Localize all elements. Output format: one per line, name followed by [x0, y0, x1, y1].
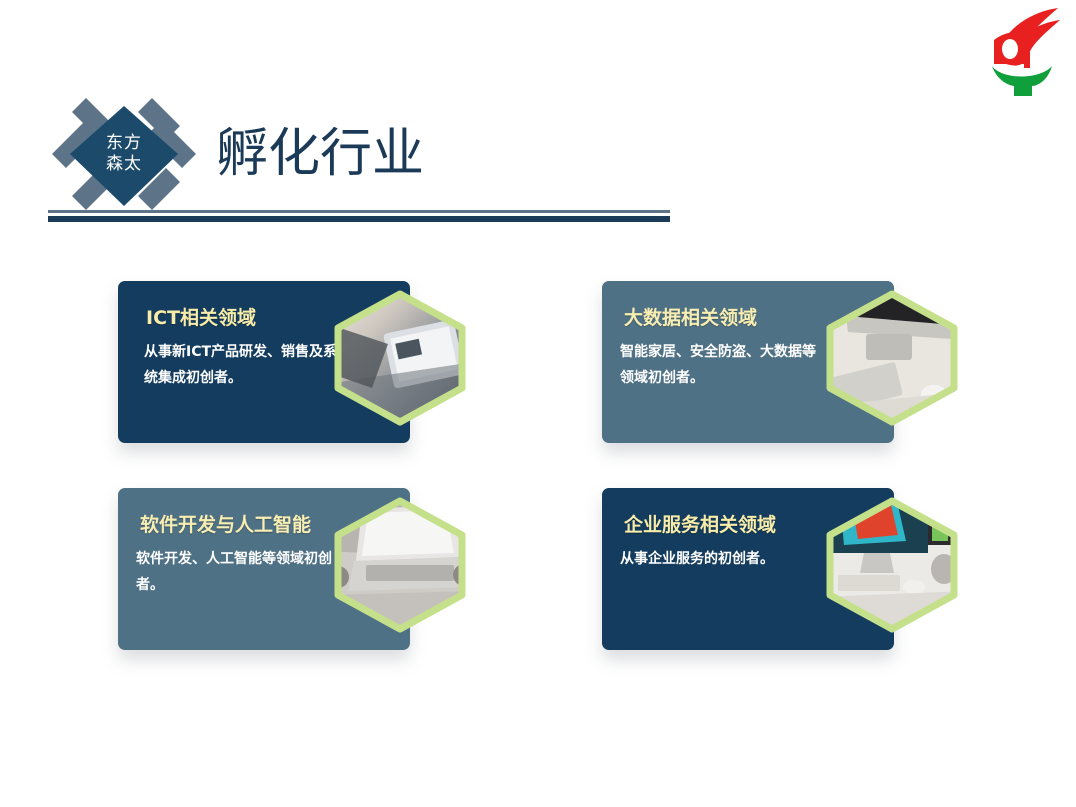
card-body: 智能家居、安全防盗、大数据等领域初创者。 — [620, 339, 816, 391]
card-title: 企业服务相关领域 — [624, 510, 776, 537]
card-image-laptop-desk-photo — [326, 495, 474, 635]
corporate-logo — [984, 6, 1066, 98]
diamond-logo-icon — [48, 88, 200, 220]
card-image-tablet-hands-photo — [326, 288, 474, 428]
card-image-imac-desktop-photo — [818, 288, 966, 428]
divider-thick-line — [48, 216, 670, 222]
card-image-imac-workspace-photo — [818, 495, 966, 635]
card-title: ICT相关领域 — [146, 303, 256, 330]
card-title: 大数据相关领域 — [624, 303, 757, 330]
brand-diamond-logo — [48, 88, 200, 220]
card-body: 软件开发、人工智能等领域初创者。 — [136, 546, 332, 598]
page-title: 孵化行业 — [216, 119, 424, 189]
card-body: 从事企业服务的初创者。 — [620, 546, 816, 572]
wing-emblem-icon — [984, 6, 1066, 98]
card-body: 从事新ICT产品研发、销售及系统集成初创者。 — [144, 339, 340, 391]
divider-thin-line — [48, 210, 670, 213]
card-title: 软件开发与人工智能 — [140, 510, 311, 537]
